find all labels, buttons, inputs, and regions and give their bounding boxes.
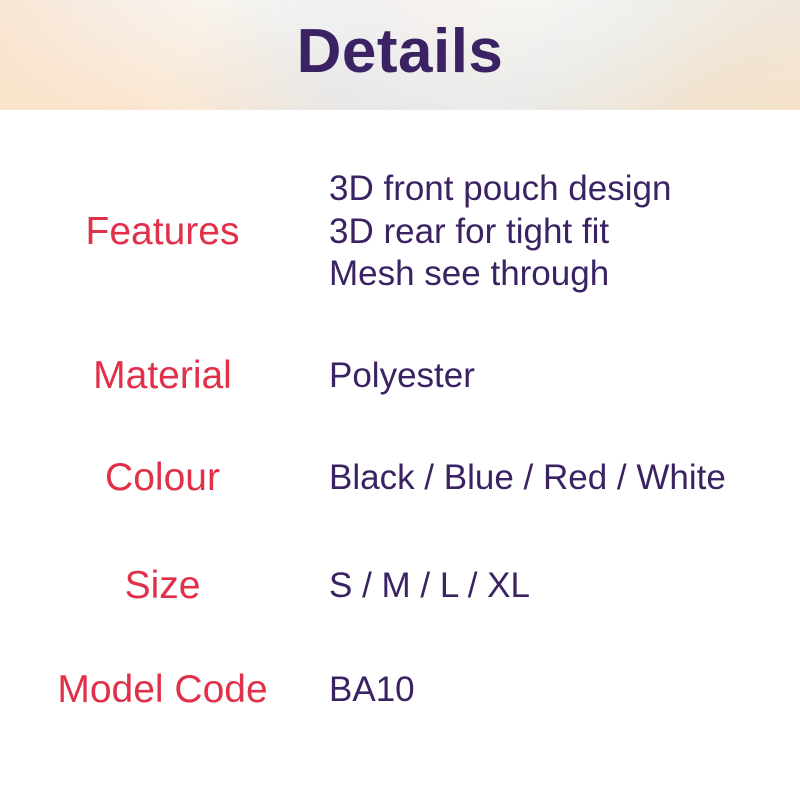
- product-details-table: Features 3D front pouch design 3D rear f…: [0, 110, 800, 800]
- page-title: Details: [0, 0, 800, 110]
- table-row-colour: Colour Black / Blue / Red / White: [0, 450, 800, 506]
- spec-value-line: 3D front pouch design: [329, 168, 800, 211]
- spec-values-material: Polyester: [329, 355, 800, 398]
- spec-value-line: 3D rear for tight fit: [329, 211, 800, 254]
- table-row-model-code: Model Code BA10: [0, 662, 800, 718]
- table-row-material: Material Polyester: [0, 348, 800, 404]
- spec-label-features: Features: [0, 211, 329, 253]
- table-row-size: Size S / M / L / XL: [0, 558, 800, 614]
- spec-value-line: Mesh see through: [329, 253, 800, 296]
- spec-values-colour: Black / Blue / Red / White: [329, 457, 800, 500]
- spec-value-line: Polyester: [329, 355, 800, 398]
- spec-value-line: Black / Blue / Red / White: [329, 457, 800, 500]
- spec-values-size: S / M / L / XL: [329, 565, 800, 608]
- spec-label-size: Size: [0, 565, 329, 607]
- spec-value-line: BA10: [329, 669, 800, 712]
- spec-values-features: 3D front pouch design 3D rear for tight …: [329, 168, 800, 296]
- spec-value-line: S / M / L / XL: [329, 565, 800, 608]
- spec-label-colour: Colour: [0, 457, 329, 499]
- spec-label-material: Material: [0, 355, 329, 397]
- table-row-features: Features 3D front pouch design 3D rear f…: [0, 158, 800, 306]
- spec-values-model-code: BA10: [329, 669, 800, 712]
- page-header-banner: Details: [0, 0, 800, 110]
- spec-label-model-code: Model Code: [0, 669, 329, 711]
